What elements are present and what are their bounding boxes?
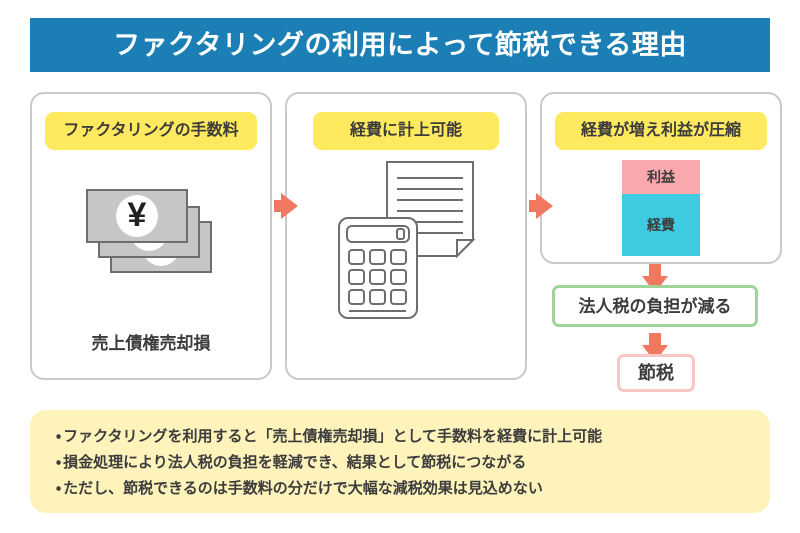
note-line-3: ・ただし、節税できるのは手数料の分だけで大幅な減税効果は見込めない: [56, 476, 770, 502]
card-3-label-pill: 経費が増え利益が圧縮: [555, 112, 767, 150]
stacked-bar-icon: 利益 経費: [622, 160, 700, 256]
note-line-2: ・損金処理により法人税の負担を軽減でき、結果として節税につながる: [56, 450, 770, 476]
document-calculator-icon: [331, 156, 481, 326]
note-text-3: ただし、節税できるのは手数料の分だけで大幅な減税効果は見込めない: [63, 480, 543, 497]
arrow-right-icon-1: [281, 193, 298, 219]
title-banner: ファクタリングの利用によって節税できる理由: [30, 18, 770, 72]
note-text-2: 損金処理により法人税の負担を軽減でき、結果として節税につながる: [63, 454, 526, 471]
banknotes-yen-icon: ¥: [83, 172, 219, 276]
card-1-label-text: ファクタリングの手数料: [63, 123, 238, 139]
note-bullet-1: ・: [56, 428, 61, 445]
card-expense-recordable: 経費に計上可能: [285, 92, 527, 380]
svg-text:¥: ¥: [128, 196, 147, 234]
outcome-box-tax-reduced: 法人税の負担が減る: [552, 285, 758, 327]
card-1-label-pill: ファクタリングの手数料: [45, 112, 257, 150]
note-bullet-3: ・: [56, 480, 61, 497]
notes-panel: ・ファクタリングを利用すると「売上債権売却損」として手数料を経費に計上可能 ・損…: [30, 410, 770, 513]
note-line-1: ・ファクタリングを利用すると「売上債権売却損」として手数料を経費に計上可能: [56, 424, 770, 450]
note-bullet-2: ・: [56, 454, 61, 471]
arrow-right-icon-2: [536, 193, 553, 219]
card-3-label-text: 経費が増え利益が圧縮: [581, 123, 741, 139]
bar-segment-profit: 利益: [622, 160, 700, 194]
card-2-label-text: 経費に計上可能: [350, 123, 462, 139]
outcome-box-tax-saving: 節税: [617, 354, 695, 392]
card-2-label-pill: 経費に計上可能: [313, 112, 499, 150]
card-profit-compressed: 経費が増え利益が圧縮 利益 経費: [540, 92, 782, 264]
outcome-box-tax-reduced-text: 法人税の負担が減る: [579, 298, 732, 315]
bar-segment-cost: 経費: [622, 194, 700, 256]
outcome-box-tax-saving-text: 節税: [638, 364, 674, 382]
infographic-canvas: ファクタリングの利用によって節税できる理由 ファクタリングの手数料 ¥ 売上債権…: [0, 0, 800, 533]
card-factoring-fee: ファクタリングの手数料 ¥ 売上債権売却損: [30, 92, 272, 380]
note-text-1: ファクタリングを利用すると「売上債権売却損」として手数料を経費に計上可能: [63, 428, 602, 445]
page-title: ファクタリングの利用によって節税できる理由: [113, 32, 687, 59]
card-1-caption: 売上債権売却損: [32, 335, 270, 352]
